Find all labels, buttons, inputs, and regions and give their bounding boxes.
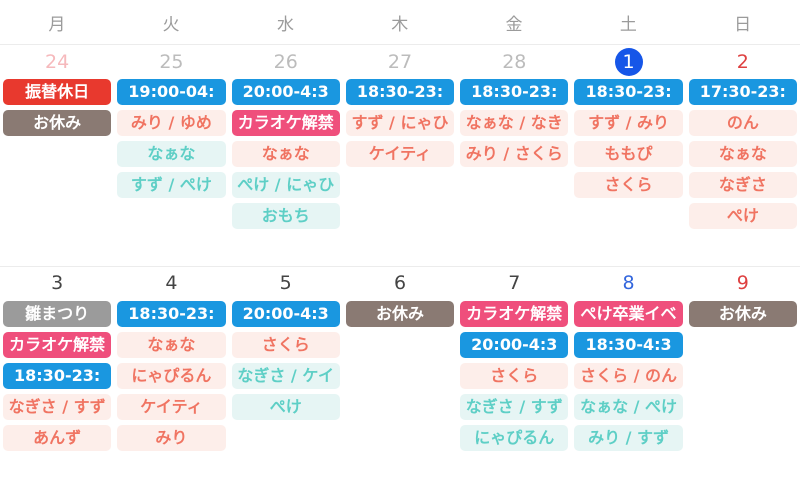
- event-chip[interactable]: 18:30-23:: [346, 79, 454, 105]
- day-number-row: 5: [229, 267, 343, 301]
- event-chip[interactable]: ぺけ卒業イベ: [574, 301, 682, 327]
- day-number-row: 3: [0, 267, 114, 301]
- day-cell[interactable]: 8ぺけ卒業イベ18:30-4:3さくら / のんなぁな / ぺけみり / すず: [571, 267, 685, 487]
- event-chip[interactable]: ぺけ: [689, 203, 797, 229]
- day-number-row: 24: [0, 45, 114, 79]
- calendar-month-view: 月火水木金土日 24振替休日お休み2519:00-04:みり / ゆめなぁなすず…: [0, 0, 800, 487]
- day-number[interactable]: 27: [386, 48, 414, 76]
- day-cell[interactable]: 2818:30-23:なぁな / なきみり / さくら: [457, 45, 571, 266]
- event-chip[interactable]: にゃぴるん: [460, 425, 568, 451]
- weekday-header-6: 日: [686, 0, 800, 44]
- event-chip[interactable]: 20:00-4:3: [232, 79, 340, 105]
- event-chip[interactable]: 18:30-4:3: [574, 332, 682, 358]
- day-events: 18:30-23:すず / みりももぴさくら: [571, 79, 685, 198]
- day-number-row: 26: [229, 45, 343, 79]
- event-chip[interactable]: みり / ゆめ: [117, 110, 225, 136]
- event-chip[interactable]: 19:00-04:: [117, 79, 225, 105]
- event-chip[interactable]: カラオケ解禁: [460, 301, 568, 327]
- day-cell[interactable]: 217:30-23:のんなぁななぎさぺけ: [686, 45, 800, 266]
- day-number[interactable]: 25: [157, 48, 185, 76]
- event-chip[interactable]: 18:30-23:: [460, 79, 568, 105]
- event-chip[interactable]: 20:00-4:3: [460, 332, 568, 358]
- day-number[interactable]: 24: [43, 48, 71, 76]
- day-number-row: 25: [114, 45, 228, 79]
- event-chip[interactable]: すず / にゃひ: [346, 110, 454, 136]
- event-chip[interactable]: さくら: [460, 363, 568, 389]
- event-chip[interactable]: 18:30-23:: [574, 79, 682, 105]
- event-chip[interactable]: ケイティ: [117, 394, 225, 420]
- calendar-week-row: 24振替休日お休み2519:00-04:みり / ゆめなぁなすず / ぺけ262…: [0, 45, 800, 267]
- day-cell[interactable]: 7カラオケ解禁20:00-4:3さくらなぎさ / すずにゃぴるん: [457, 267, 571, 487]
- event-chip[interactable]: おもち: [232, 203, 340, 229]
- day-cell[interactable]: 2718:30-23:すず / にゃひケイティ: [343, 45, 457, 266]
- weekday-header-1: 火: [114, 0, 228, 44]
- day-number[interactable]: 28: [500, 48, 528, 76]
- weekday-header-4: 金: [457, 0, 571, 44]
- event-chip[interactable]: なぁな / なき: [460, 110, 568, 136]
- event-chip[interactable]: さくら: [232, 332, 340, 358]
- event-chip[interactable]: お休み: [3, 110, 111, 136]
- event-chip[interactable]: みり: [117, 425, 225, 451]
- event-chip[interactable]: あんず: [3, 425, 111, 451]
- event-chip[interactable]: ぺけ / にゃひ: [232, 172, 340, 198]
- weekday-header-2: 水: [229, 0, 343, 44]
- event-chip[interactable]: ぺけ: [232, 394, 340, 420]
- event-chip[interactable]: なぁな / ぺけ: [574, 394, 682, 420]
- day-number[interactable]: 3: [43, 270, 71, 298]
- day-events: 18:30-23:なぁな / なきみり / さくら: [457, 79, 571, 167]
- event-chip[interactable]: さくら / のん: [574, 363, 682, 389]
- event-chip[interactable]: なぎさ / すず: [460, 394, 568, 420]
- event-chip[interactable]: 18:30-23:: [3, 363, 111, 389]
- day-events: お休み: [343, 301, 457, 327]
- event-chip[interactable]: のん: [689, 110, 797, 136]
- event-chip[interactable]: なぎさ / すず: [3, 394, 111, 420]
- day-events: 19:00-04:みり / ゆめなぁなすず / ぺけ: [114, 79, 228, 198]
- calendar-week-row: 3雛まつりカラオケ解禁18:30-23:なぎさ / すずあんず418:30-23…: [0, 267, 800, 487]
- day-cell[interactable]: 6お休み: [343, 267, 457, 487]
- event-chip[interactable]: ももぴ: [574, 141, 682, 167]
- event-chip[interactable]: すず / ぺけ: [117, 172, 225, 198]
- day-events: 17:30-23:のんなぁななぎさぺけ: [686, 79, 800, 229]
- day-events: 20:00-4:3さくらなぎさ / ケイぺけ: [229, 301, 343, 420]
- day-events: 18:30-23:なぁなにゃぴるんケイティみり: [114, 301, 228, 451]
- event-chip[interactable]: なぁな: [117, 141, 225, 167]
- day-cell[interactable]: 418:30-23:なぁなにゃぴるんケイティみり: [114, 267, 228, 487]
- day-events: 18:30-23:すず / にゃひケイティ: [343, 79, 457, 167]
- event-chip[interactable]: カラオケ解禁: [232, 110, 340, 136]
- day-number[interactable]: 7: [500, 270, 528, 298]
- day-cell[interactable]: 520:00-4:3さくらなぎさ / ケイぺけ: [229, 267, 343, 487]
- day-number-row: 1: [571, 45, 685, 79]
- day-cell[interactable]: 2620:00-4:3カラオケ解禁なぁなぺけ / にゃひおもち: [229, 45, 343, 266]
- event-chip[interactable]: お休み: [346, 301, 454, 327]
- event-chip[interactable]: なぎさ: [689, 172, 797, 198]
- event-chip[interactable]: カラオケ解禁: [3, 332, 111, 358]
- day-number-row: 27: [343, 45, 457, 79]
- event-chip[interactable]: 20:00-4:3: [232, 301, 340, 327]
- day-events: 雛まつりカラオケ解禁18:30-23:なぎさ / すずあんず: [0, 301, 114, 451]
- weekday-header-5: 土: [571, 0, 685, 44]
- day-cell[interactable]: 118:30-23:すず / みりももぴさくら: [571, 45, 685, 266]
- weekday-header-3: 木: [343, 0, 457, 44]
- day-number-row: 9: [686, 267, 800, 301]
- event-chip[interactable]: 振替休日: [3, 79, 111, 105]
- day-number[interactable]: 6: [386, 270, 414, 298]
- day-number-row: 4: [114, 267, 228, 301]
- day-number-today[interactable]: 1: [615, 48, 643, 76]
- event-chip[interactable]: お休み: [689, 301, 797, 327]
- day-events: 20:00-4:3カラオケ解禁なぁなぺけ / にゃひおもち: [229, 79, 343, 229]
- weekday-header-0: 月: [0, 0, 114, 44]
- day-number-row: 2: [686, 45, 800, 79]
- weekday-header-row: 月火水木金土日: [0, 0, 800, 45]
- day-number-row: 7: [457, 267, 571, 301]
- event-chip[interactable]: みり / さくら: [460, 141, 568, 167]
- event-chip[interactable]: 雛まつり: [3, 301, 111, 327]
- event-chip[interactable]: なぁな: [232, 141, 340, 167]
- day-number[interactable]: 8: [615, 270, 643, 298]
- day-number[interactable]: 5: [272, 270, 300, 298]
- event-chip[interactable]: みり / すず: [574, 425, 682, 451]
- event-chip[interactable]: なぁな: [117, 332, 225, 358]
- event-chip[interactable]: にゃぴるん: [117, 363, 225, 389]
- day-events: お休み: [686, 301, 800, 327]
- event-chip[interactable]: さくら: [574, 172, 682, 198]
- event-chip[interactable]: 17:30-23:: [689, 79, 797, 105]
- event-chip[interactable]: すず / みり: [574, 110, 682, 136]
- day-cell[interactable]: 24振替休日お休み: [0, 45, 114, 266]
- day-events: カラオケ解禁20:00-4:3さくらなぎさ / すずにゃぴるん: [457, 301, 571, 451]
- day-number[interactable]: 2: [729, 48, 757, 76]
- day-number[interactable]: 4: [157, 270, 185, 298]
- day-number-row: 28: [457, 45, 571, 79]
- day-number-row: 6: [343, 267, 457, 301]
- day-cell[interactable]: 2519:00-04:みり / ゆめなぁなすず / ぺけ: [114, 45, 228, 266]
- day-number[interactable]: 26: [272, 48, 300, 76]
- day-cell[interactable]: 9お休み: [686, 267, 800, 487]
- day-cell[interactable]: 3雛まつりカラオケ解禁18:30-23:なぎさ / すずあんず: [0, 267, 114, 487]
- calendar-weeks: 24振替休日お休み2519:00-04:みり / ゆめなぁなすず / ぺけ262…: [0, 45, 800, 487]
- event-chip[interactable]: 18:30-23:: [117, 301, 225, 327]
- event-chip[interactable]: ケイティ: [346, 141, 454, 167]
- day-number-row: 8: [571, 267, 685, 301]
- day-events: ぺけ卒業イベ18:30-4:3さくら / のんなぁな / ぺけみり / すず: [571, 301, 685, 451]
- event-chip[interactable]: なぎさ / ケイ: [232, 363, 340, 389]
- day-number[interactable]: 9: [729, 270, 757, 298]
- event-chip[interactable]: なぁな: [689, 141, 797, 167]
- day-events: 振替休日お休み: [0, 79, 114, 136]
